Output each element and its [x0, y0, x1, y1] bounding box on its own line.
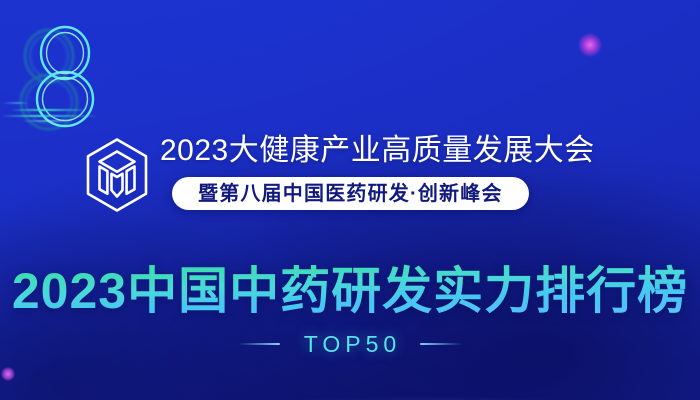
- rule-right-divider: [420, 343, 462, 345]
- rank-label: TOP50: [299, 332, 401, 356]
- conference-banner: 2023大健康产业高质量发展大会 暨第八届中国医药研发·创新峰会 2023中国中…: [0, 0, 700, 400]
- streak-line: [0, 115, 96, 117]
- subtitle-pill: 暨第八届中国医药研发·创新峰会: [172, 177, 529, 210]
- rule-left-divider: [238, 343, 280, 345]
- headline-title: 2023中国中药研发实力排行榜: [0, 262, 700, 320]
- cube-m-logo-icon: [84, 137, 150, 213]
- page-title: 2023大健康产业高质量发展大会: [160, 130, 595, 172]
- neon-eight-decoration: [6, 22, 126, 132]
- purple-glow-dot-small-icon: [1, 367, 15, 381]
- bottom-light-haze: [150, 378, 700, 400]
- streak-line: [10, 109, 84, 111]
- motion-streaks: [0, 108, 118, 130]
- purple-glow-dot-icon: [578, 33, 602, 57]
- streak-line: [22, 120, 74, 122]
- streak-line: [2, 102, 28, 104]
- conference-header: 2023大健康产业高质量发展大会 暨第八届中国医药研发·创新峰会: [84, 133, 624, 225]
- subtitle-pill-label: 暨第八届中国医药研发·创新峰会: [198, 184, 503, 204]
- rank-label-row: TOP50: [0, 331, 700, 357]
